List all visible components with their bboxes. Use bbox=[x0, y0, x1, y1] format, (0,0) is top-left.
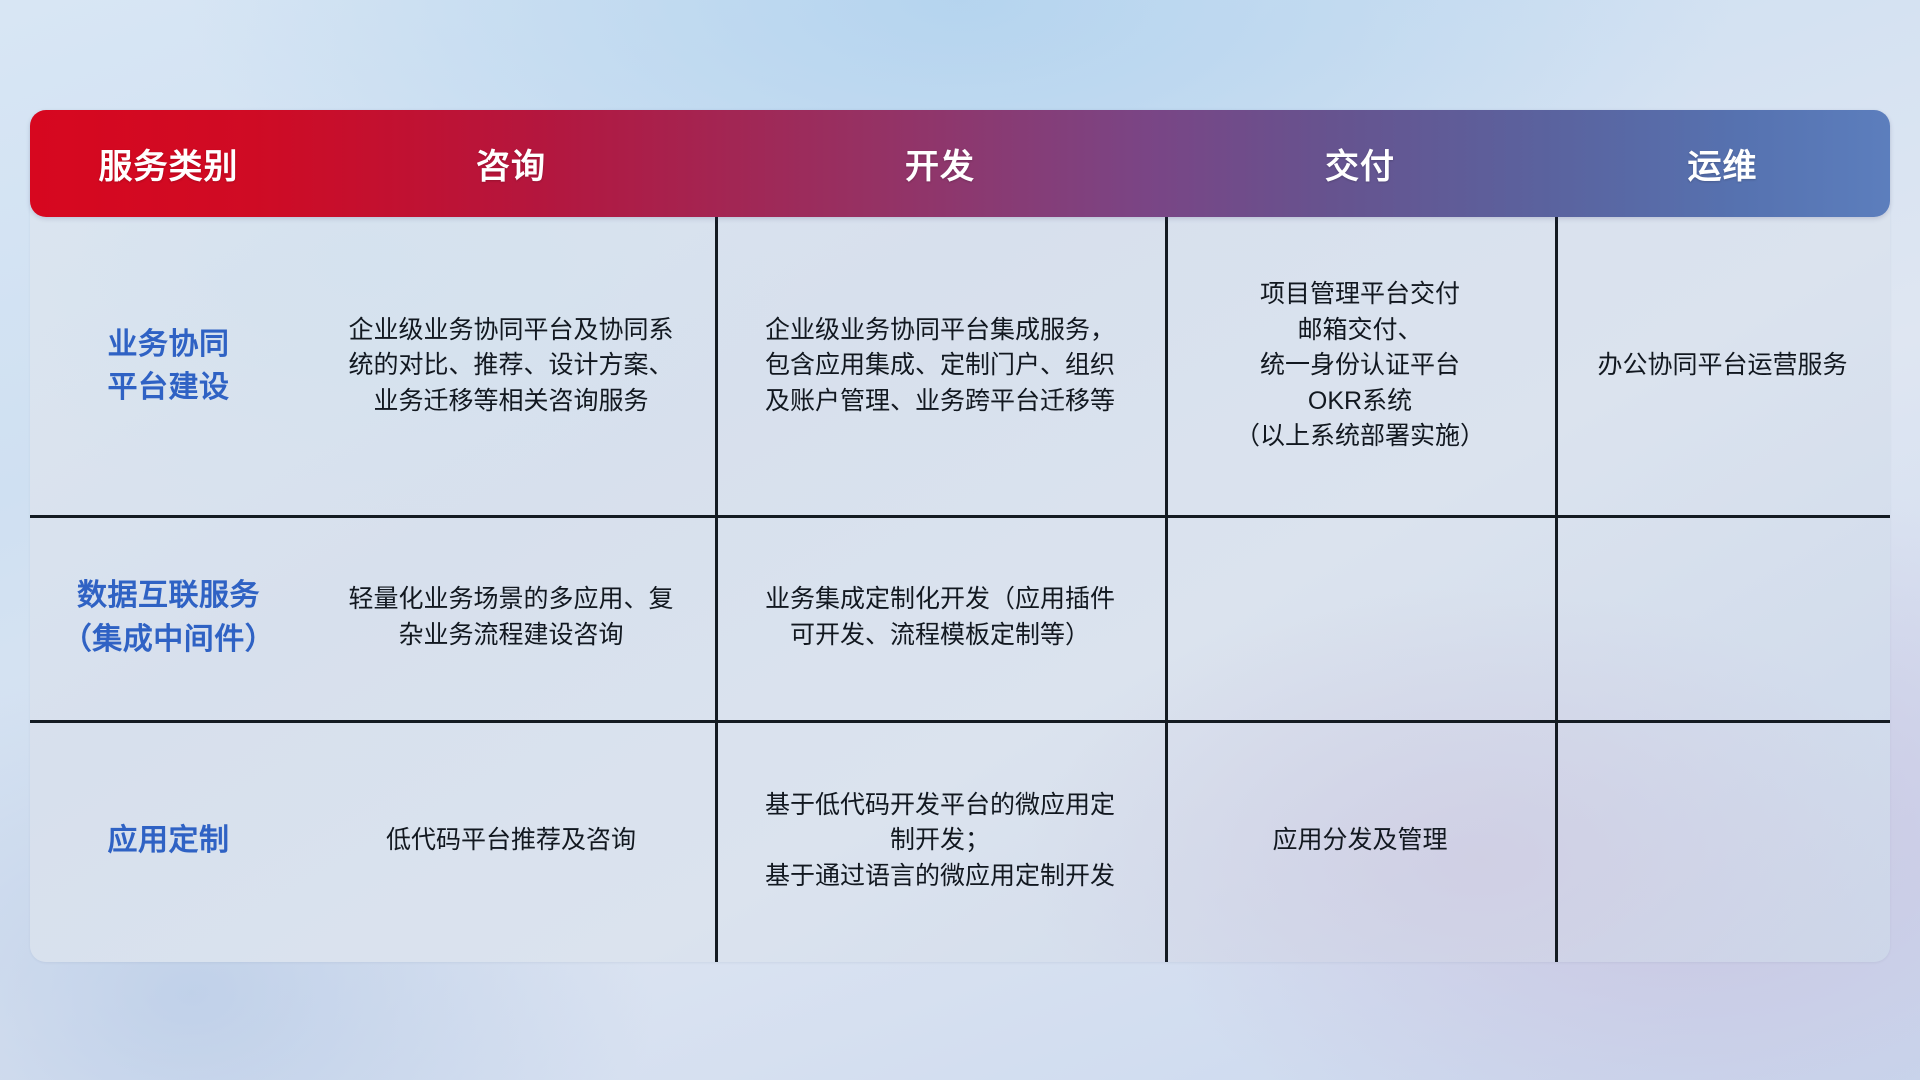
service-matrix-table: 服务类别 咨询 开发 交付 运维 业务协同 平台建设 企业级业务协同平台及协同系… bbox=[30, 110, 1890, 962]
cell-consulting: 轻量化业务场景的多应用、复 杂业务流程建设咨询 bbox=[307, 515, 715, 720]
header-delivery: 交付 bbox=[1165, 139, 1555, 188]
cell-text: 企业级业务协同平台及协同系 统的对比、推荐、设计方案、 业务迁移等相关咨询服务 bbox=[348, 313, 673, 420]
cell-delivery bbox=[1165, 515, 1555, 720]
cell-text: 办公协同平台运营服务 bbox=[1597, 348, 1847, 384]
column-divider-3 bbox=[1555, 217, 1558, 962]
cell-text: 业务协同 平台建设 bbox=[108, 323, 230, 409]
header-development: 开发 bbox=[715, 139, 1165, 188]
cell-delivery: 应用分发及管理 bbox=[1165, 720, 1555, 962]
cell-text: 项目管理平台交付 邮箱交付、 统一身份认证平台 OKR系统 （以上系统部署实施） bbox=[1235, 277, 1485, 455]
table-row: 业务协同 平台建设 企业级业务协同平台及协同系 统的对比、推荐、设计方案、 业务… bbox=[30, 217, 1890, 515]
cell-operations: 办公协同平台运营服务 bbox=[1555, 217, 1890, 515]
table-rows: 业务协同 平台建设 企业级业务协同平台及协同系 统的对比、推荐、设计方案、 业务… bbox=[30, 217, 1890, 962]
cell-operations bbox=[1555, 515, 1890, 720]
header-service-category: 服务类别 bbox=[30, 139, 307, 188]
cell-consulting: 企业级业务协同平台及协同系 统的对比、推荐、设计方案、 业务迁移等相关咨询服务 bbox=[307, 217, 715, 515]
cell-category: 数据互联服务 （集成中间件） bbox=[30, 515, 307, 720]
cell-operations bbox=[1555, 720, 1890, 962]
cell-text: 基于低代码开发平台的微应用定 制开发； 基于通过语言的微应用定制开发 bbox=[765, 788, 1115, 895]
cell-text: 轻量化业务场景的多应用、复 杂业务流程建设咨询 bbox=[348, 582, 673, 653]
cell-development: 企业级业务协同平台集成服务， 包含应用集成、定制门户、组织 及账户管理、业务跨平… bbox=[715, 217, 1165, 515]
header-operations: 运维 bbox=[1555, 139, 1890, 188]
column-divider-1 bbox=[715, 217, 718, 962]
cell-development: 基于低代码开发平台的微应用定 制开发； 基于通过语言的微应用定制开发 bbox=[715, 720, 1165, 962]
header-consulting: 咨询 bbox=[307, 139, 715, 188]
row-divider-2 bbox=[30, 720, 1890, 723]
table-header-row: 服务类别 咨询 开发 交付 运维 bbox=[30, 110, 1890, 217]
table-row: 应用定制 低代码平台推荐及咨询 基于低代码开发平台的微应用定 制开发； 基于通过… bbox=[30, 720, 1890, 962]
cell-delivery: 项目管理平台交付 邮箱交付、 统一身份认证平台 OKR系统 （以上系统部署实施） bbox=[1165, 217, 1555, 515]
cell-text: 应用分发及管理 bbox=[1272, 823, 1447, 859]
row-divider-1 bbox=[30, 515, 1890, 518]
column-divider-2 bbox=[1165, 217, 1168, 962]
cell-category: 应用定制 bbox=[30, 720, 307, 962]
cell-consulting: 低代码平台推荐及咨询 bbox=[307, 720, 715, 962]
cell-development: 业务集成定制化开发（应用插件 可开发、流程模板定制等） bbox=[715, 515, 1165, 720]
cell-text: 应用定制 bbox=[108, 819, 230, 862]
cell-category: 业务协同 平台建设 bbox=[30, 217, 307, 515]
cell-text: 数据互联服务 （集成中间件） bbox=[62, 574, 276, 660]
cell-text: 企业级业务协同平台集成服务， 包含应用集成、定制门户、组织 及账户管理、业务跨平… bbox=[765, 313, 1115, 420]
cell-text: 业务集成定制化开发（应用插件 可开发、流程模板定制等） bbox=[765, 582, 1115, 653]
cell-text: 低代码平台推荐及咨询 bbox=[386, 823, 636, 859]
table-row: 数据互联服务 （集成中间件） 轻量化业务场景的多应用、复 杂业务流程建设咨询 业… bbox=[30, 515, 1890, 720]
